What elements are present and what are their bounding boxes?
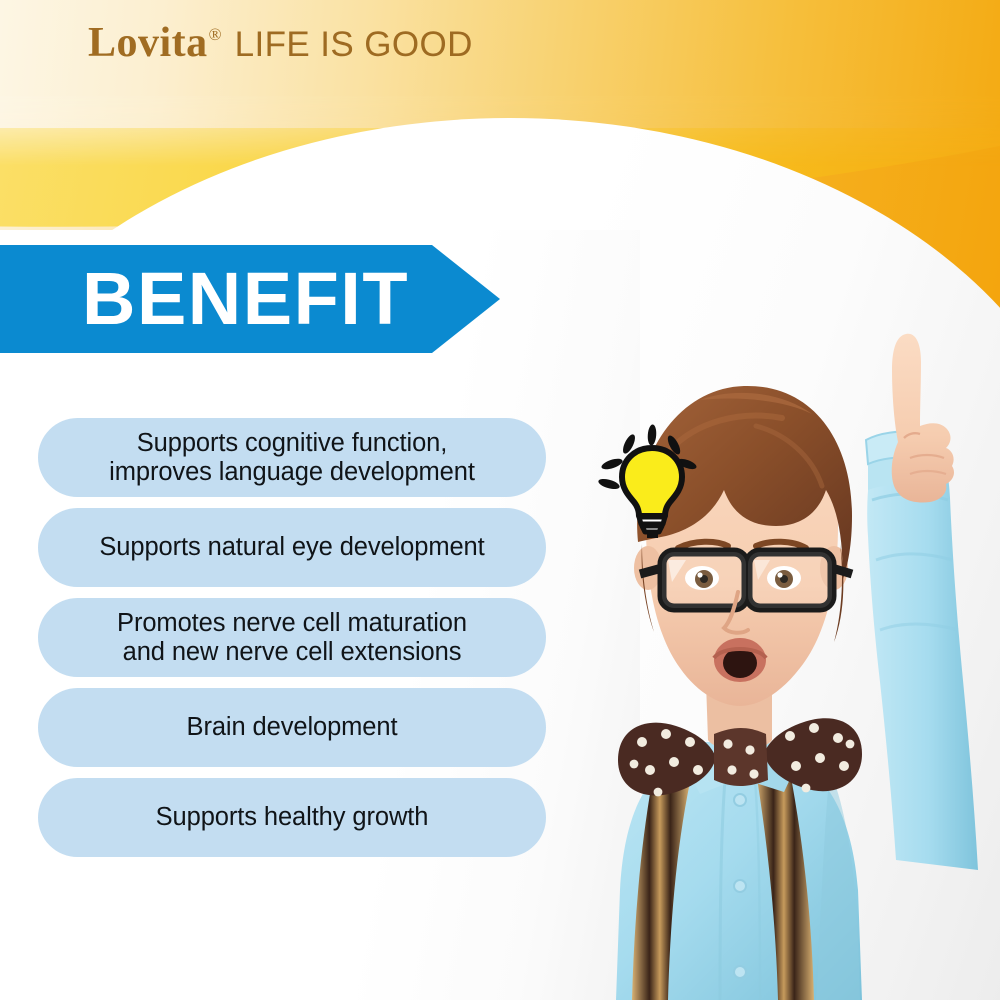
- benefit-text: Supports healthy growth: [156, 803, 429, 832]
- benefit-text: Promotes nerve cell maturation and new n…: [117, 609, 467, 666]
- benefit-list: Supports cognitive function, improves la…: [38, 418, 546, 868]
- benefit-text: Supports cognitive function, improves la…: [109, 429, 475, 486]
- brand-logo: Lovita ® LIFE IS GOOD: [88, 22, 473, 64]
- product-benefit-poster: Lovita ® LIFE IS GOOD BENEFIT Supports c…: [0, 0, 1000, 1000]
- list-item: Supports natural eye development: [38, 508, 546, 587]
- list-item: Brain development: [38, 688, 546, 767]
- benefit-line-2: and new nerve cell extensions: [123, 638, 462, 666]
- benefit-line-2: improves language development: [109, 458, 475, 486]
- registered-trademark-icon: ®: [209, 25, 222, 45]
- list-item: Supports healthy growth: [38, 778, 546, 857]
- list-item: Promotes nerve cell maturation and new n…: [38, 598, 546, 677]
- list-item: Supports cognitive function, improves la…: [38, 418, 546, 497]
- brand-name: Lovita: [88, 22, 208, 64]
- benefit-line-1: Promotes nerve cell maturation: [117, 609, 467, 637]
- benefit-banner: BENEFIT: [0, 245, 500, 353]
- benefit-line-1: Supports healthy growth: [156, 803, 429, 831]
- benefit-text: Supports natural eye development: [99, 533, 484, 562]
- benefit-line-1: Supports natural eye development: [99, 533, 484, 561]
- boy-pointing-up-photo: [500, 330, 1000, 1000]
- benefit-banner-label: BENEFIT: [82, 262, 409, 336]
- benefit-text: Brain development: [187, 713, 398, 742]
- benefit-line-1: Brain development: [187, 713, 398, 741]
- brand-tagline: LIFE IS GOOD: [235, 27, 473, 62]
- benefit-line-1: Supports cognitive function,: [137, 429, 447, 457]
- lightbulb-idea-icon: [592, 420, 712, 540]
